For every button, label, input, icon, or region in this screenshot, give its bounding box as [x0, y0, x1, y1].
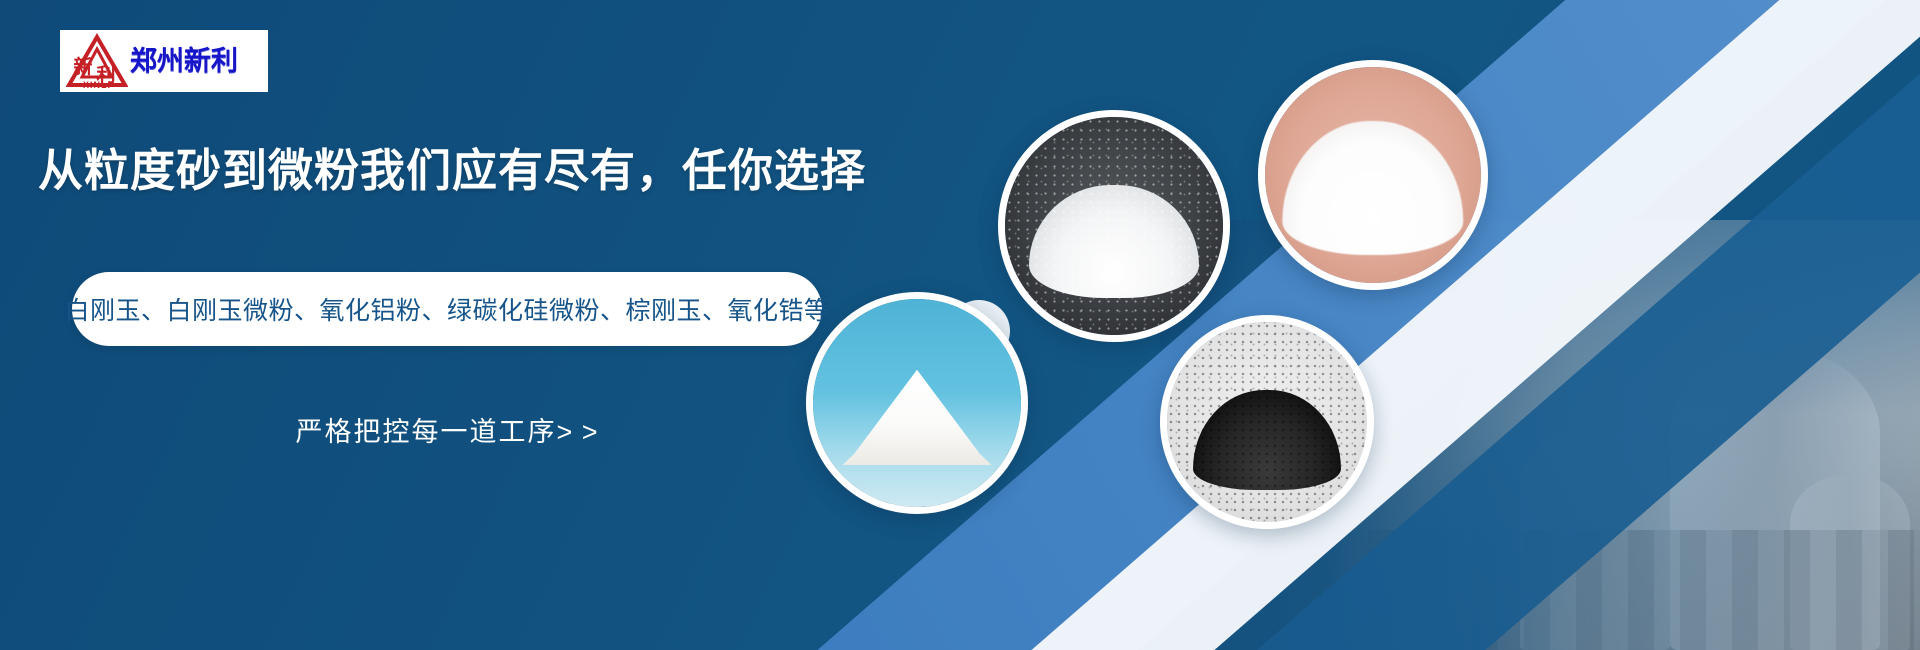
- hero-banner: 新 利 XINLI 郑州新利 从粒度砂到微粉我们应有尽有，任你选择 白刚玉、白刚…: [0, 0, 1920, 650]
- subline[interactable]: 严格把控每一道工序> >: [72, 410, 822, 449]
- product-photo-white-grains[interactable]: [998, 110, 1230, 342]
- product-photo-inner: [1167, 322, 1367, 522]
- product-photo-inner: [1005, 117, 1223, 335]
- xinli-triangle-icon: 新 利 XINLI: [66, 33, 128, 89]
- product-photo-black-grains[interactable]: [1160, 315, 1374, 529]
- company-name-text: 郑州新利: [130, 48, 238, 75]
- chevron-right-icon: > >: [556, 417, 598, 447]
- company-logo[interactable]: 新 利 XINLI 郑州新利: [60, 30, 268, 92]
- material-heap: [842, 370, 992, 466]
- product-photo-white-powder[interactable]: [1258, 60, 1488, 290]
- material-heap: [1282, 121, 1463, 255]
- grain-texture: [1005, 117, 1223, 335]
- product-photo-alumina-cone[interactable]: [806, 292, 1028, 514]
- grain-texture: [1167, 322, 1367, 522]
- product-photo-inner: [1265, 67, 1481, 283]
- product-list-pill: 白刚玉、白刚玉微粉、氧化铝粉、绿碳化硅微粉、棕刚玉、氧化锆等: [72, 272, 822, 346]
- product-list-text: 白刚玉、白刚玉微粉、氧化铝粉、绿碳化硅微粉、棕刚玉、氧化锆等: [65, 291, 830, 327]
- logo-char-xin: 新: [73, 55, 92, 78]
- subline-text: 严格把控每一道工序: [295, 417, 556, 447]
- headline-text: 从粒度砂到微粉我们应有尽有，任你选择: [38, 143, 866, 199]
- logo-pinyin: XINLI: [83, 80, 111, 89]
- product-photo-inner: [813, 299, 1021, 507]
